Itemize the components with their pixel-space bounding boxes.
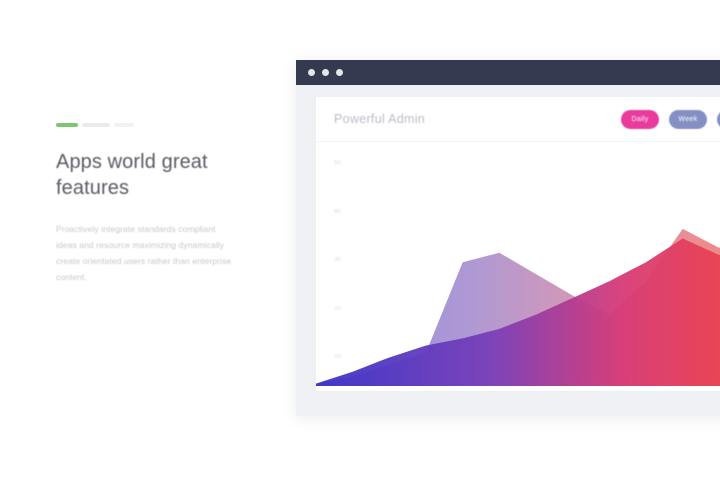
pill-daily[interactable]: Daily: [621, 110, 659, 129]
window-dot-minimize-icon[interactable]: [322, 69, 329, 76]
window-titlebar: [296, 60, 720, 85]
promo-body-text: Proactively integrate standards complian…: [56, 221, 236, 285]
pill-week[interactable]: Week: [669, 110, 707, 129]
range-filter-group: Daily Week Month: [621, 110, 720, 129]
y-axis-tick: 40: [334, 209, 341, 215]
accent-bar-grey-1: [82, 123, 110, 127]
chart-y-axis: 50 40 30 20 10: [334, 160, 341, 360]
y-axis-tick: 10: [334, 354, 341, 360]
window-body: Powerful Admin Daily Week Month 50 40 30…: [296, 85, 720, 404]
browser-window: Powerful Admin Daily Week Month 50 40 30…: [296, 60, 720, 416]
accent-bar-green: [56, 123, 78, 127]
card-title: Powerful Admin: [334, 112, 425, 126]
card-header: Powerful Admin Daily Week Month: [316, 97, 720, 142]
page-title: Apps world great features: [56, 149, 231, 201]
chart-plot-area: [316, 142, 720, 404]
area-chart: 50 40 30 20 10: [316, 142, 720, 404]
y-axis-tick: 30: [334, 257, 341, 263]
accent-bar-grey-2: [114, 123, 134, 127]
y-axis-tick: 50: [334, 160, 341, 166]
window-footer-band: [296, 391, 720, 416]
window-dot-close-icon[interactable]: [308, 69, 315, 76]
promo-panel: Apps world great features Proactively in…: [56, 122, 256, 285]
y-axis-tick: 20: [334, 306, 341, 312]
accent-rule: [56, 122, 256, 127]
window-dot-maximize-icon[interactable]: [336, 69, 343, 76]
admin-dashboard-card: Powerful Admin Daily Week Month 50 40 30…: [316, 97, 720, 404]
